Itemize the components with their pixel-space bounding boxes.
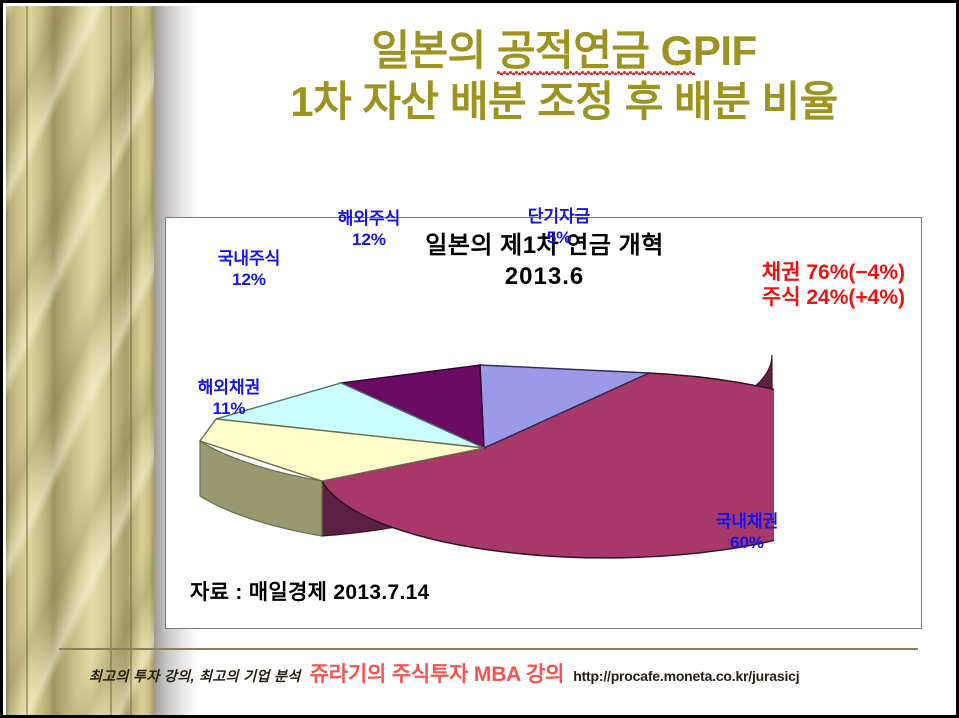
- decorative-gold-band: [6, 6, 154, 718]
- gold-band-seam: [130, 6, 132, 718]
- pie-chart: 국내주식 12% 해외주식 12% 단기자금 5% 해외채권 11% 국내채권 …: [194, 353, 774, 598]
- pie-label-foreign-equity-value: 12%: [304, 229, 434, 250]
- pie-label-domestic-bond: 국내채권 60%: [682, 511, 812, 553]
- pie-label-foreign-bond: 해외채권 11%: [164, 377, 294, 419]
- pie-label-short-term-name: 단기자금: [494, 206, 624, 227]
- footer-url[interactable]: http://procafe.moneta.co.kr/jurasicj: [573, 668, 799, 684]
- pie-label-foreign-bond-name: 해외채권: [164, 377, 294, 398]
- annotation-stocks: 주식 24%(+4%): [762, 285, 905, 310]
- spellcheck-squiggle-icon: [497, 71, 695, 75]
- slide-title-line-1-text: 일본의 공적연금 GPIF: [371, 27, 756, 74]
- pie-label-domestic-equity: 국내주식 12%: [184, 248, 314, 290]
- chart-source-note: 자료 : 매일경제 2013.7.14: [190, 576, 430, 606]
- gold-band-seam: [110, 6, 112, 718]
- gold-band-seam: [26, 6, 28, 718]
- footer: 최고의 투자 강의, 최고의 기업 분석 쥬라기의 주식투자 MBA 강의 ht…: [89, 658, 929, 688]
- pie-label-domestic-equity-value: 12%: [184, 269, 314, 290]
- pie-label-foreign-bond-value: 11%: [164, 398, 294, 419]
- footer-divider: [59, 648, 918, 650]
- chart-container: 일본의 제1차 연금 개혁 2013.6 채권 76%(−4%) 주식 24%(…: [165, 217, 922, 629]
- footer-brand: 쥬라기의 주식투자 MBA 강의: [310, 658, 565, 688]
- presentation-slide: 일본의 공적연금 GPIF 1차 자산 배분 조정 후 배분 비율 일본의 제1…: [0, 0, 959, 718]
- slide-title: 일본의 공적연금 GPIF 1차 자산 배분 조정 후 배분 비율: [179, 25, 949, 127]
- pie-label-short-term: 단기자금 5%: [494, 206, 624, 248]
- pie-label-domestic-bond-value: 60%: [682, 532, 812, 553]
- chart-annotation: 채권 76%(−4%) 주식 24%(+4%): [762, 260, 905, 310]
- slide-title-line-1: 일본의 공적연금 GPIF: [371, 25, 756, 76]
- footer-tagline: 최고의 투자 강의, 최고의 기업 분석: [89, 666, 301, 686]
- pie-label-domestic-bond-name: 국내채권: [682, 511, 812, 532]
- annotation-bonds: 채권 76%(−4%): [762, 260, 905, 285]
- slide-title-line-2: 1차 자산 배분 조정 후 배분 비율: [179, 76, 949, 127]
- pie-label-foreign-equity-name: 해외주식: [304, 208, 434, 229]
- pie-label-domestic-equity-name: 국내주식: [184, 248, 314, 269]
- pie-label-short-term-value: 5%: [494, 227, 624, 248]
- pie-label-foreign-equity: 해외주식 12%: [304, 208, 434, 250]
